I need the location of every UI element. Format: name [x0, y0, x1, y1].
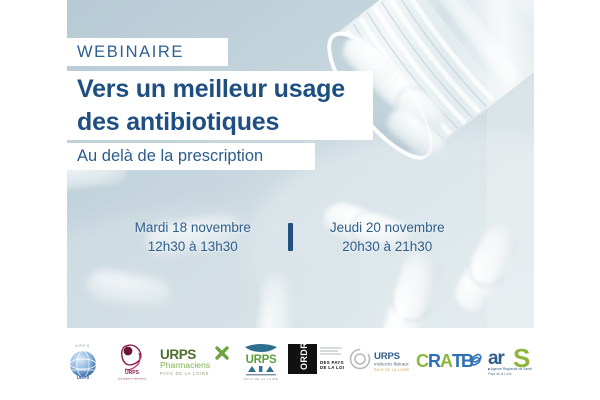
svg-text:URPS: URPS [75, 344, 90, 348]
svg-text:médecins libéraux: médecins libéraux [374, 362, 409, 367]
svg-text:chirurgiens-dentistes: chirurgiens-dentistes [118, 377, 147, 381]
urps-chirurgiens-dentistes-logo: URPS chirurgiens-dentistes [111, 339, 153, 383]
title-panel: Vers un meilleur usage des antibiotiques [67, 71, 373, 140]
svg-text:URPS: URPS [125, 370, 140, 376]
ordre-pharmaciens-mark: ORDRE DES PAYS DE LA LOIRE [288, 344, 344, 378]
title-line-1: Vers un meilleur usage [67, 71, 373, 106]
session-2-day: Jeudi 20 novembre [305, 218, 471, 237]
svg-text:URPS: URPS [77, 375, 90, 380]
subtitle-label: Au delà de la prescription [67, 147, 263, 166]
partner-logos: URPS URPS UR [60, 336, 545, 386]
ars-pays-de-la-loire-logo: ar S ■ Agence Régionale de Santé Pays de… [487, 344, 545, 378]
session-2-hours: 20h30 à 21h30 [305, 237, 471, 256]
kicker-badge: WEBINAIRE [67, 38, 228, 66]
session-1-day: Mardi 18 novembre [110, 218, 276, 237]
svg-text:PAYS DE LA LOIRE: PAYS DE LA LOIRE [374, 368, 410, 372]
webinar-poster: WEBINAIRE Vers un meilleur usage des ant… [0, 0, 600, 400]
svg-text:■ Agence Régionale de Santé: ■ Agence Régionale de Santé [488, 367, 532, 371]
session-dates: Mardi 18 novembre 12h30 à 13h30 Jeudi 20… [110, 214, 470, 260]
title-line-2: des antibiotiques [67, 106, 373, 139]
urps-pharmaciens-pays-de-la-loire-logo: URPS Pharmaciens PAYS DE LA LOIRE [158, 344, 234, 378]
session-2: Jeudi 20 novembre 20h30 à 21h30 [305, 218, 471, 256]
subtitle-panel: Au delà de la prescription [67, 143, 315, 170]
session-1: Mardi 18 novembre 12h30 à 13h30 [110, 218, 276, 256]
ars-mark: ar S ■ Agence Régionale de Santé Pays de… [487, 344, 545, 378]
svg-text:Pays de la Loire: Pays de la Loire [488, 372, 512, 376]
session-divider [288, 223, 293, 251]
cratb-logo: C R A T B [416, 348, 482, 374]
urps-infirmiers-mark: URPS PAYS DE LA LOIRE [239, 340, 283, 382]
urps-pharmaciens-mark: URPS Pharmaciens PAYS DE LA LOIRE [158, 344, 234, 378]
svg-text:ORDRE: ORDRE [299, 344, 309, 370]
svg-text:PAYS DE LA LOIRE: PAYS DE LA LOIRE [160, 371, 209, 376]
urps-biologistes-mark: URPS URPS [60, 339, 106, 383]
urps-infirmiers-logo: URPS PAYS DE LA LOIRE [239, 340, 283, 382]
cratb-mark: C R A T B [416, 348, 482, 374]
urps-biologistes-logo: URPS URPS [60, 339, 106, 383]
kicker-label: WEBINAIRE [67, 43, 184, 62]
svg-text:PAYS DE LA LOIRE: PAYS DE LA LOIRE [244, 377, 279, 381]
svg-text:URPS: URPS [374, 351, 401, 362]
urps-medecins-liberaux-logo: URPS médecins libéraux PAYS DE LA LOIRE [349, 346, 411, 376]
ordre-pharmaciens-pays-de-la-loire-logo: ORDRE DES PAYS DE LA LOIRE [288, 344, 344, 378]
svg-text:Pharmaciens: Pharmaciens [160, 360, 210, 370]
svg-text:DE LA LOIRE: DE LA LOIRE [320, 365, 344, 370]
svg-text:URPS: URPS [246, 354, 277, 366]
urps-medecins-mark: URPS médecins libéraux PAYS DE LA LOIRE [349, 346, 411, 376]
session-1-hours: 12h30 à 13h30 [110, 237, 276, 256]
urps-dentistes-mark: URPS chirurgiens-dentistes [111, 339, 153, 383]
svg-text:ar: ar [488, 348, 505, 369]
